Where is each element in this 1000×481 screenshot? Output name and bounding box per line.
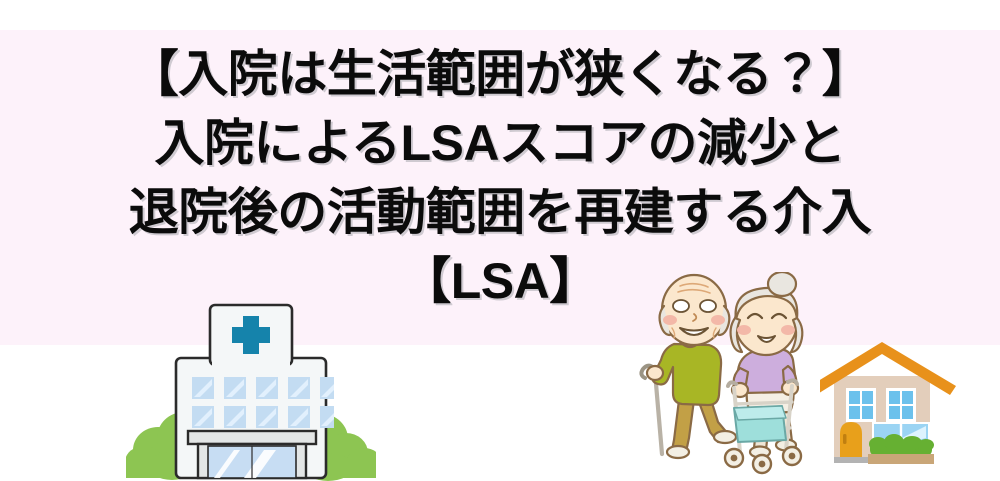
house-upper-window-right bbox=[886, 388, 916, 422]
house-illustration bbox=[820, 338, 960, 470]
elderly-couple-icon bbox=[636, 272, 826, 481]
house-upper-window-left bbox=[846, 388, 876, 422]
elderly-man bbox=[641, 275, 736, 458]
title-card-canvas: 【入院は生活範囲が狭くなる？】 入院によるLSAスコアの減少と 退院後の活動範囲… bbox=[0, 0, 1000, 481]
house-step bbox=[834, 457, 868, 463]
pink-banner-band bbox=[0, 30, 1000, 345]
hospital-illustration bbox=[126, 300, 376, 481]
house-icon bbox=[820, 338, 960, 470]
hospital-entrance bbox=[198, 444, 306, 478]
hospital-entrance-canopy bbox=[188, 431, 316, 444]
hospital-icon bbox=[126, 300, 376, 481]
elderly-couple-illustration bbox=[636, 272, 826, 481]
house-door bbox=[840, 422, 862, 460]
house-planter bbox=[868, 454, 934, 464]
